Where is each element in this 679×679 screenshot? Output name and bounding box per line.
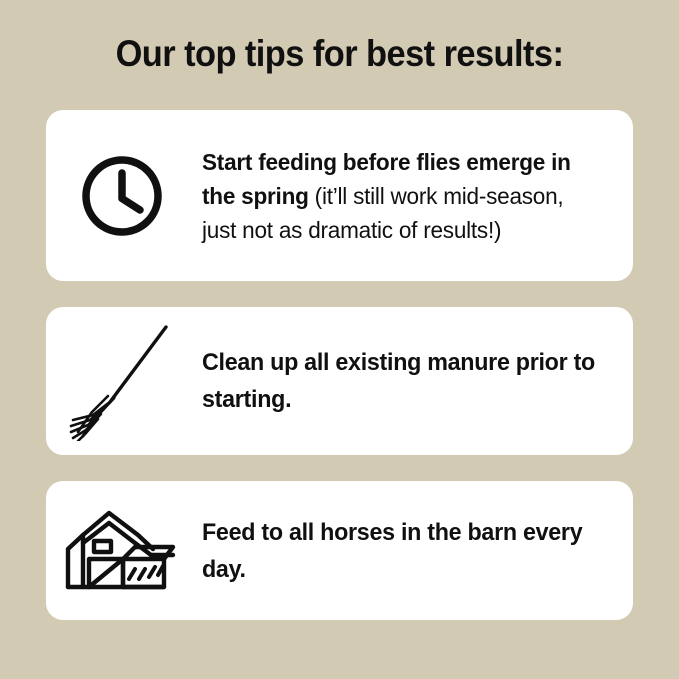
tip-card-2-text: Clean up all existing manure prior to st… [202,344,598,418]
tip-card-2-icon-container [46,307,202,455]
tip-card-3-text-container: Feed to all horses in the barn every day… [202,514,633,588]
tip-card-3-text: Feed to all horses in the barn every day… [202,514,598,588]
tip-card-3-icon-container [46,481,202,620]
clock-icon [79,153,165,239]
tips-infographic: Our top tips for best results: Start fee… [0,0,679,679]
tip-card-1: Start feeding before flies emerge in the… [46,110,633,281]
tip-card-1-icon-container [46,110,202,281]
page-title: Our top tips for best results: [24,31,655,77]
tip-card-3: Feed to all horses in the barn every day… [46,481,633,620]
tip-card-1-text: Start feeding before flies emerge in the… [202,145,602,247]
barn-icon [61,505,181,597]
rake-icon [67,319,179,441]
tip-card-1-text-container: Start feeding before flies emerge in the… [202,145,633,247]
tip-card-2: Clean up all existing manure prior to st… [46,307,633,455]
tip-card-2-text-container: Clean up all existing manure prior to st… [202,344,633,418]
